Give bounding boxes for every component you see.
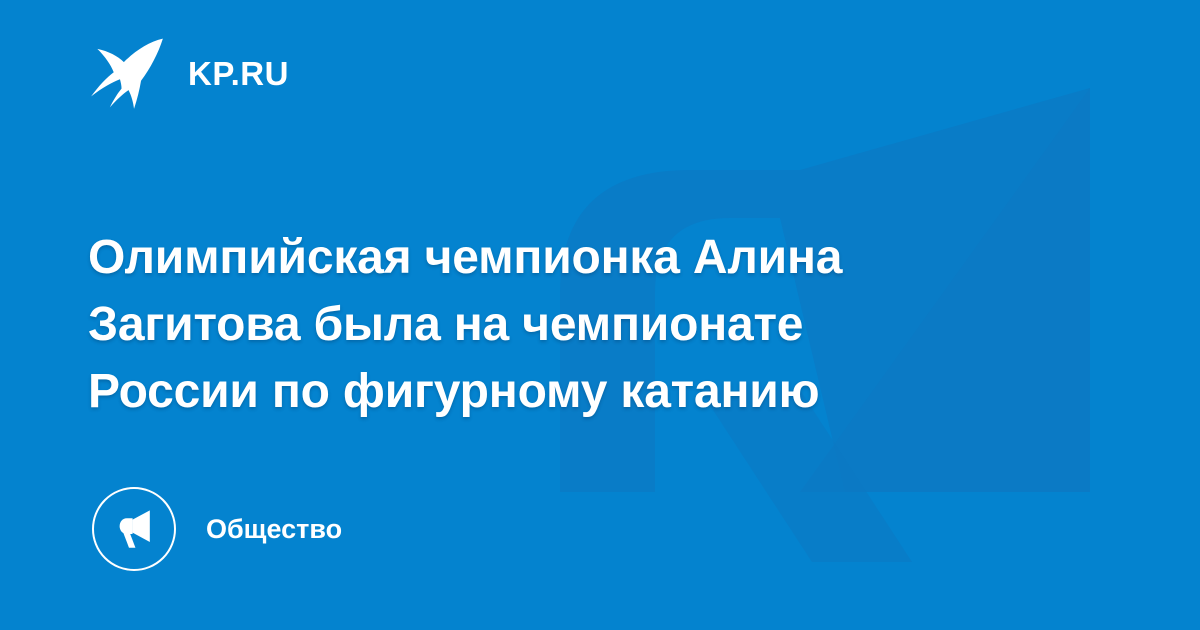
headline-title: Олимпийская чемпионка Алина Загитова был…	[88, 224, 1038, 425]
megaphone-icon	[111, 506, 157, 552]
category-icon-circle	[92, 487, 176, 571]
category-label: Общество	[206, 516, 342, 543]
brand-wordmark: KP.RU	[188, 57, 289, 90]
social-share-card: KP.RU Олимпийская чемпионка Алина Загито…	[0, 0, 1200, 630]
category-badge[interactable]: Общество	[92, 484, 342, 574]
swallow-bird-icon	[88, 34, 166, 112]
brand-logo[interactable]: KP.RU	[88, 34, 289, 112]
